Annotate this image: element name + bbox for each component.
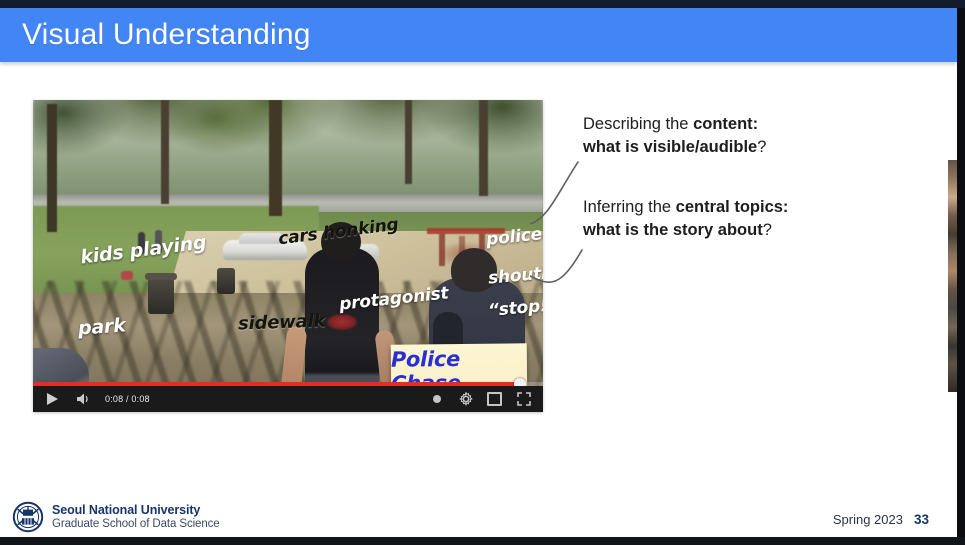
explanation-topics: Inferring the central topics: what is th… [583,196,788,243]
video-control-bar: 0:08 / 0:08 [33,386,543,412]
page-number: 33 [914,512,929,527]
explanation-topics-line1: Inferring the central topics: [583,196,788,219]
video-time-display: 0:08 / 0:08 [105,394,150,404]
scene-tree-trunk [47,104,57,232]
volume-icon[interactable] [75,390,93,408]
page-title: Visual Understanding [22,18,311,52]
explanation-content-line1: Describing the content: [583,113,766,136]
gear-icon[interactable] [458,392,473,407]
video-figure[interactable]: kids playing park cars honking sidewalk … [33,100,543,412]
explanation-content-line2: what is visible/audible? [583,136,766,159]
slide-footer: Seoul National University Graduate Schoo… [0,485,957,537]
fullscreen-icon[interactable] [516,392,531,407]
info-icon[interactable] [429,392,444,407]
scene-tree-trunk [405,100,412,184]
explanation-topics-line2: what is the story about? [583,219,788,242]
bottom-bezel [0,537,965,545]
video-frame: kids playing park cars honking sidewalk … [33,100,543,412]
scene-tree-trunk [161,100,169,204]
scene-tree-trunk [269,100,282,216]
explanation-content: Describing the content: what is visible/… [583,113,766,160]
theater-mode-icon[interactable] [487,392,502,407]
top-bezel [0,0,965,8]
right-bezel [957,8,965,537]
annotation-sidewalk: sidewalk [238,310,326,334]
video-right-controls [429,392,531,407]
scene-trash-bin [217,268,235,294]
play-icon[interactable] [43,390,61,408]
scene-child [121,271,133,280]
slide-canvas: Visual Understanding [0,0,965,545]
university-logo: Seoul National University Graduate Schoo… [12,501,220,533]
footer-meta: Spring 2023 33 [833,512,929,527]
annotation-park: park [77,314,126,339]
university-name: Seoul National University [52,503,220,518]
snu-crest-icon [12,501,44,533]
scene-shirt-graphic [327,314,357,330]
slide-title-banner: Visual Understanding [0,8,957,62]
department-name: Graduate School of Data Science [52,518,220,532]
university-name-block: Seoul National University Graduate Schoo… [52,503,220,531]
scene-trash-bin [148,278,174,314]
right-edge-video-sliver [948,160,957,392]
scene-tree-trunk [479,100,488,196]
term-label: Spring 2023 [833,512,903,527]
